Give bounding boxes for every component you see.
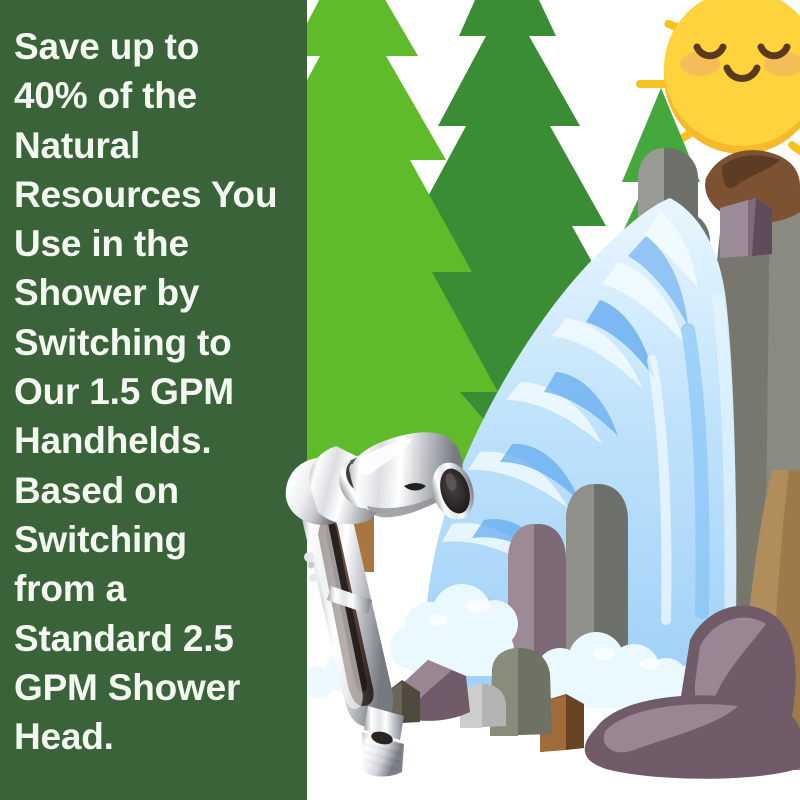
handheld-shower-head — [0, 0, 800, 800]
shower-nub-a — [304, 552, 314, 562]
poster-canvas: Save up to 40% of the Natural Resources … — [0, 0, 800, 800]
shower-nub-b — [309, 574, 317, 582]
shower-nub-c — [308, 562, 315, 569]
